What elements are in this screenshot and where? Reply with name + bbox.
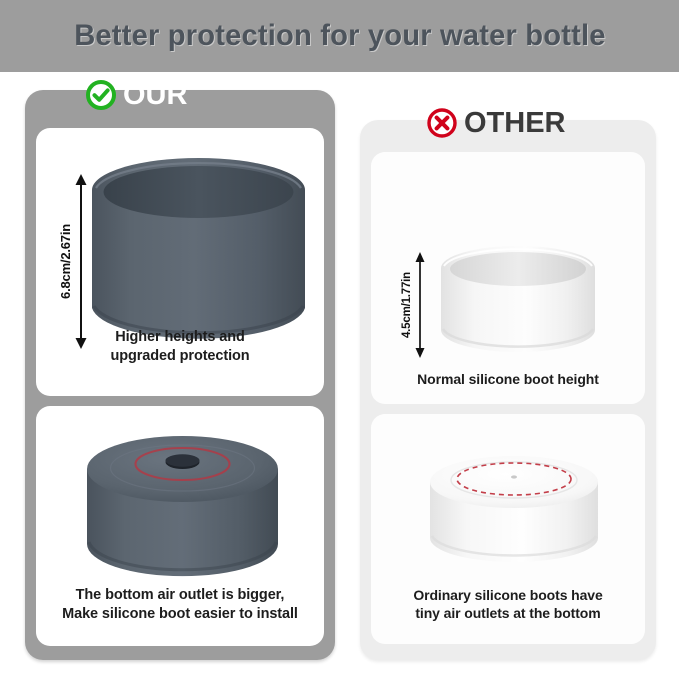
short-white-silicone-boot: [437, 244, 599, 371]
our-dimension-annotation: 6.8cm/2.67in: [58, 174, 89, 349]
our-card2-caption: The bottom air outlet is bigger, Make si…: [36, 586, 324, 624]
white-boot-bottom-view: [425, 446, 603, 581]
gray-boot-bottom-view: [80, 424, 285, 599]
other-card2-caption: Ordinary silicone boots have tiny air ou…: [371, 586, 645, 623]
page-title: Better protection for your water bottle: [74, 19, 605, 53]
other-card-air-outlet: Ordinary silicone boots have tiny air ou…: [371, 414, 645, 644]
other-dimension-annotation: 4.5cm/1.77in: [401, 252, 427, 358]
our-dimension-label: 6.8cm/2.67in: [58, 224, 73, 299]
our-card-air-outlet: The bottom air outlet is bigger, Make si…: [36, 406, 324, 646]
our-card-height: 6.8cm/2.67in: [36, 128, 324, 396]
our-badge-label: OUR: [123, 81, 187, 110]
our-card1-caption: Higher heights and upgraded protection: [36, 328, 324, 366]
other-dimension-label: 4.5cm/1.77in: [401, 272, 413, 338]
double-arrow-icon: [413, 252, 427, 358]
other-card-height: 4.5cm/1.77in: [371, 152, 645, 404]
our-badge: OUR: [86, 80, 187, 110]
header-bar: Better protection for your water bottle: [0, 0, 679, 72]
other-badge: OTHER: [427, 108, 566, 138]
other-card1-caption: Normal silicone boot height: [371, 370, 645, 388]
check-circle-icon: [86, 80, 116, 110]
cross-circle-icon: [427, 108, 457, 138]
other-badge-label: OTHER: [464, 109, 566, 138]
comparison-stage: OUR 6.8cm/2.67in: [0, 72, 679, 677]
